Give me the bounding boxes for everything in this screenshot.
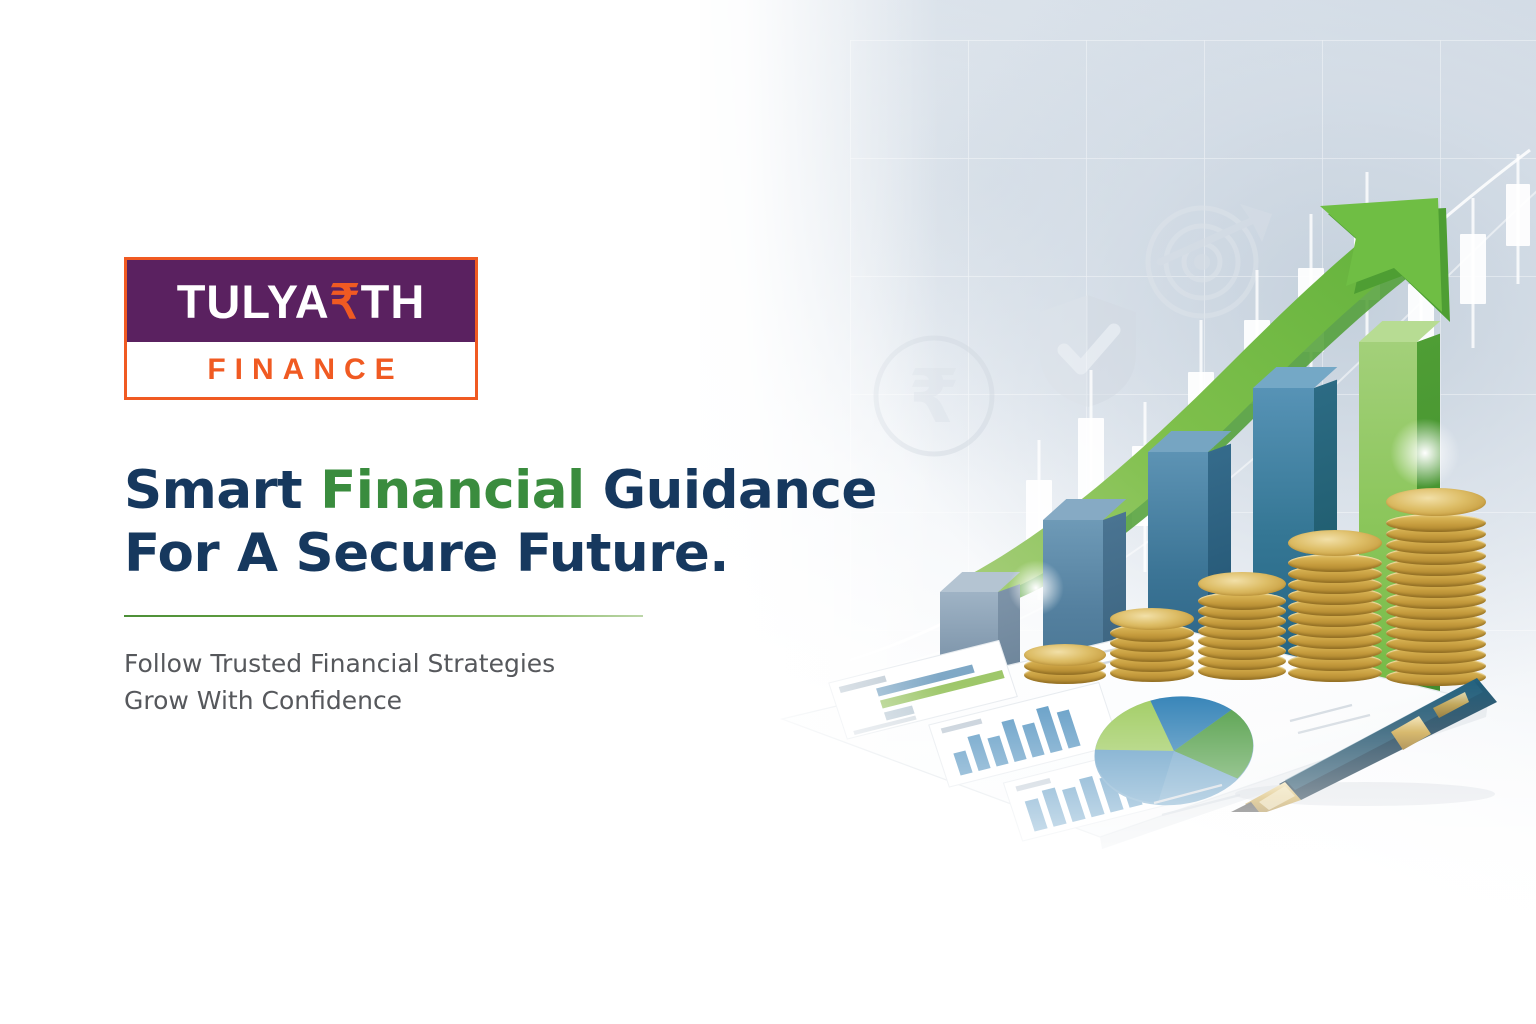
coin-stack-1 — [1024, 644, 1106, 684]
rupee-symbol-icon: ₹ — [330, 275, 361, 328]
coin-stack-3 — [1198, 564, 1286, 680]
logo-wordmark: TULYA₹TH — [177, 278, 426, 325]
background-bottom-fade — [700, 684, 1536, 1024]
bokeh-highlight — [1390, 418, 1460, 488]
headline-part-c: Guidance — [585, 460, 877, 521]
headline-line-1: Smart Financial Guidance — [124, 460, 784, 523]
brand-logo[interactable]: TULYA₹TH FINANCE — [124, 257, 478, 400]
logo-subtitle-panel: FINANCE — [127, 342, 475, 397]
banner-canvas: ₹ — [0, 0, 1536, 1024]
subtext-line-1: Follow Trusted Financial Strategies — [124, 645, 784, 682]
headline-divider — [124, 615, 643, 617]
page-title: Smart Financial Guidance For A Secure Fu… — [124, 460, 784, 585]
headline-line-2: For A Secure Future. — [124, 523, 784, 586]
coin-stack-2 — [1110, 602, 1194, 682]
logo-word-part2: TH — [361, 275, 426, 328]
coin-stack-5 — [1386, 480, 1486, 686]
logo-word-part1: TULYA — [177, 275, 330, 328]
hero-subtext: Follow Trusted Financial Strategies Grow… — [124, 645, 784, 719]
logo-wordmark-panel: TULYA₹TH — [127, 260, 475, 342]
hero-content: TULYA₹TH FINANCE Smart Financial Guidanc… — [124, 257, 784, 719]
logo-subtitle: FINANCE — [198, 355, 403, 385]
headline-part-a: Smart — [124, 460, 320, 521]
headline-highlight: Financial — [320, 460, 585, 521]
subtext-line-2: Grow With Confidence — [124, 682, 784, 719]
bokeh-highlight — [1008, 560, 1064, 616]
coin-stack-4 — [1288, 522, 1382, 682]
